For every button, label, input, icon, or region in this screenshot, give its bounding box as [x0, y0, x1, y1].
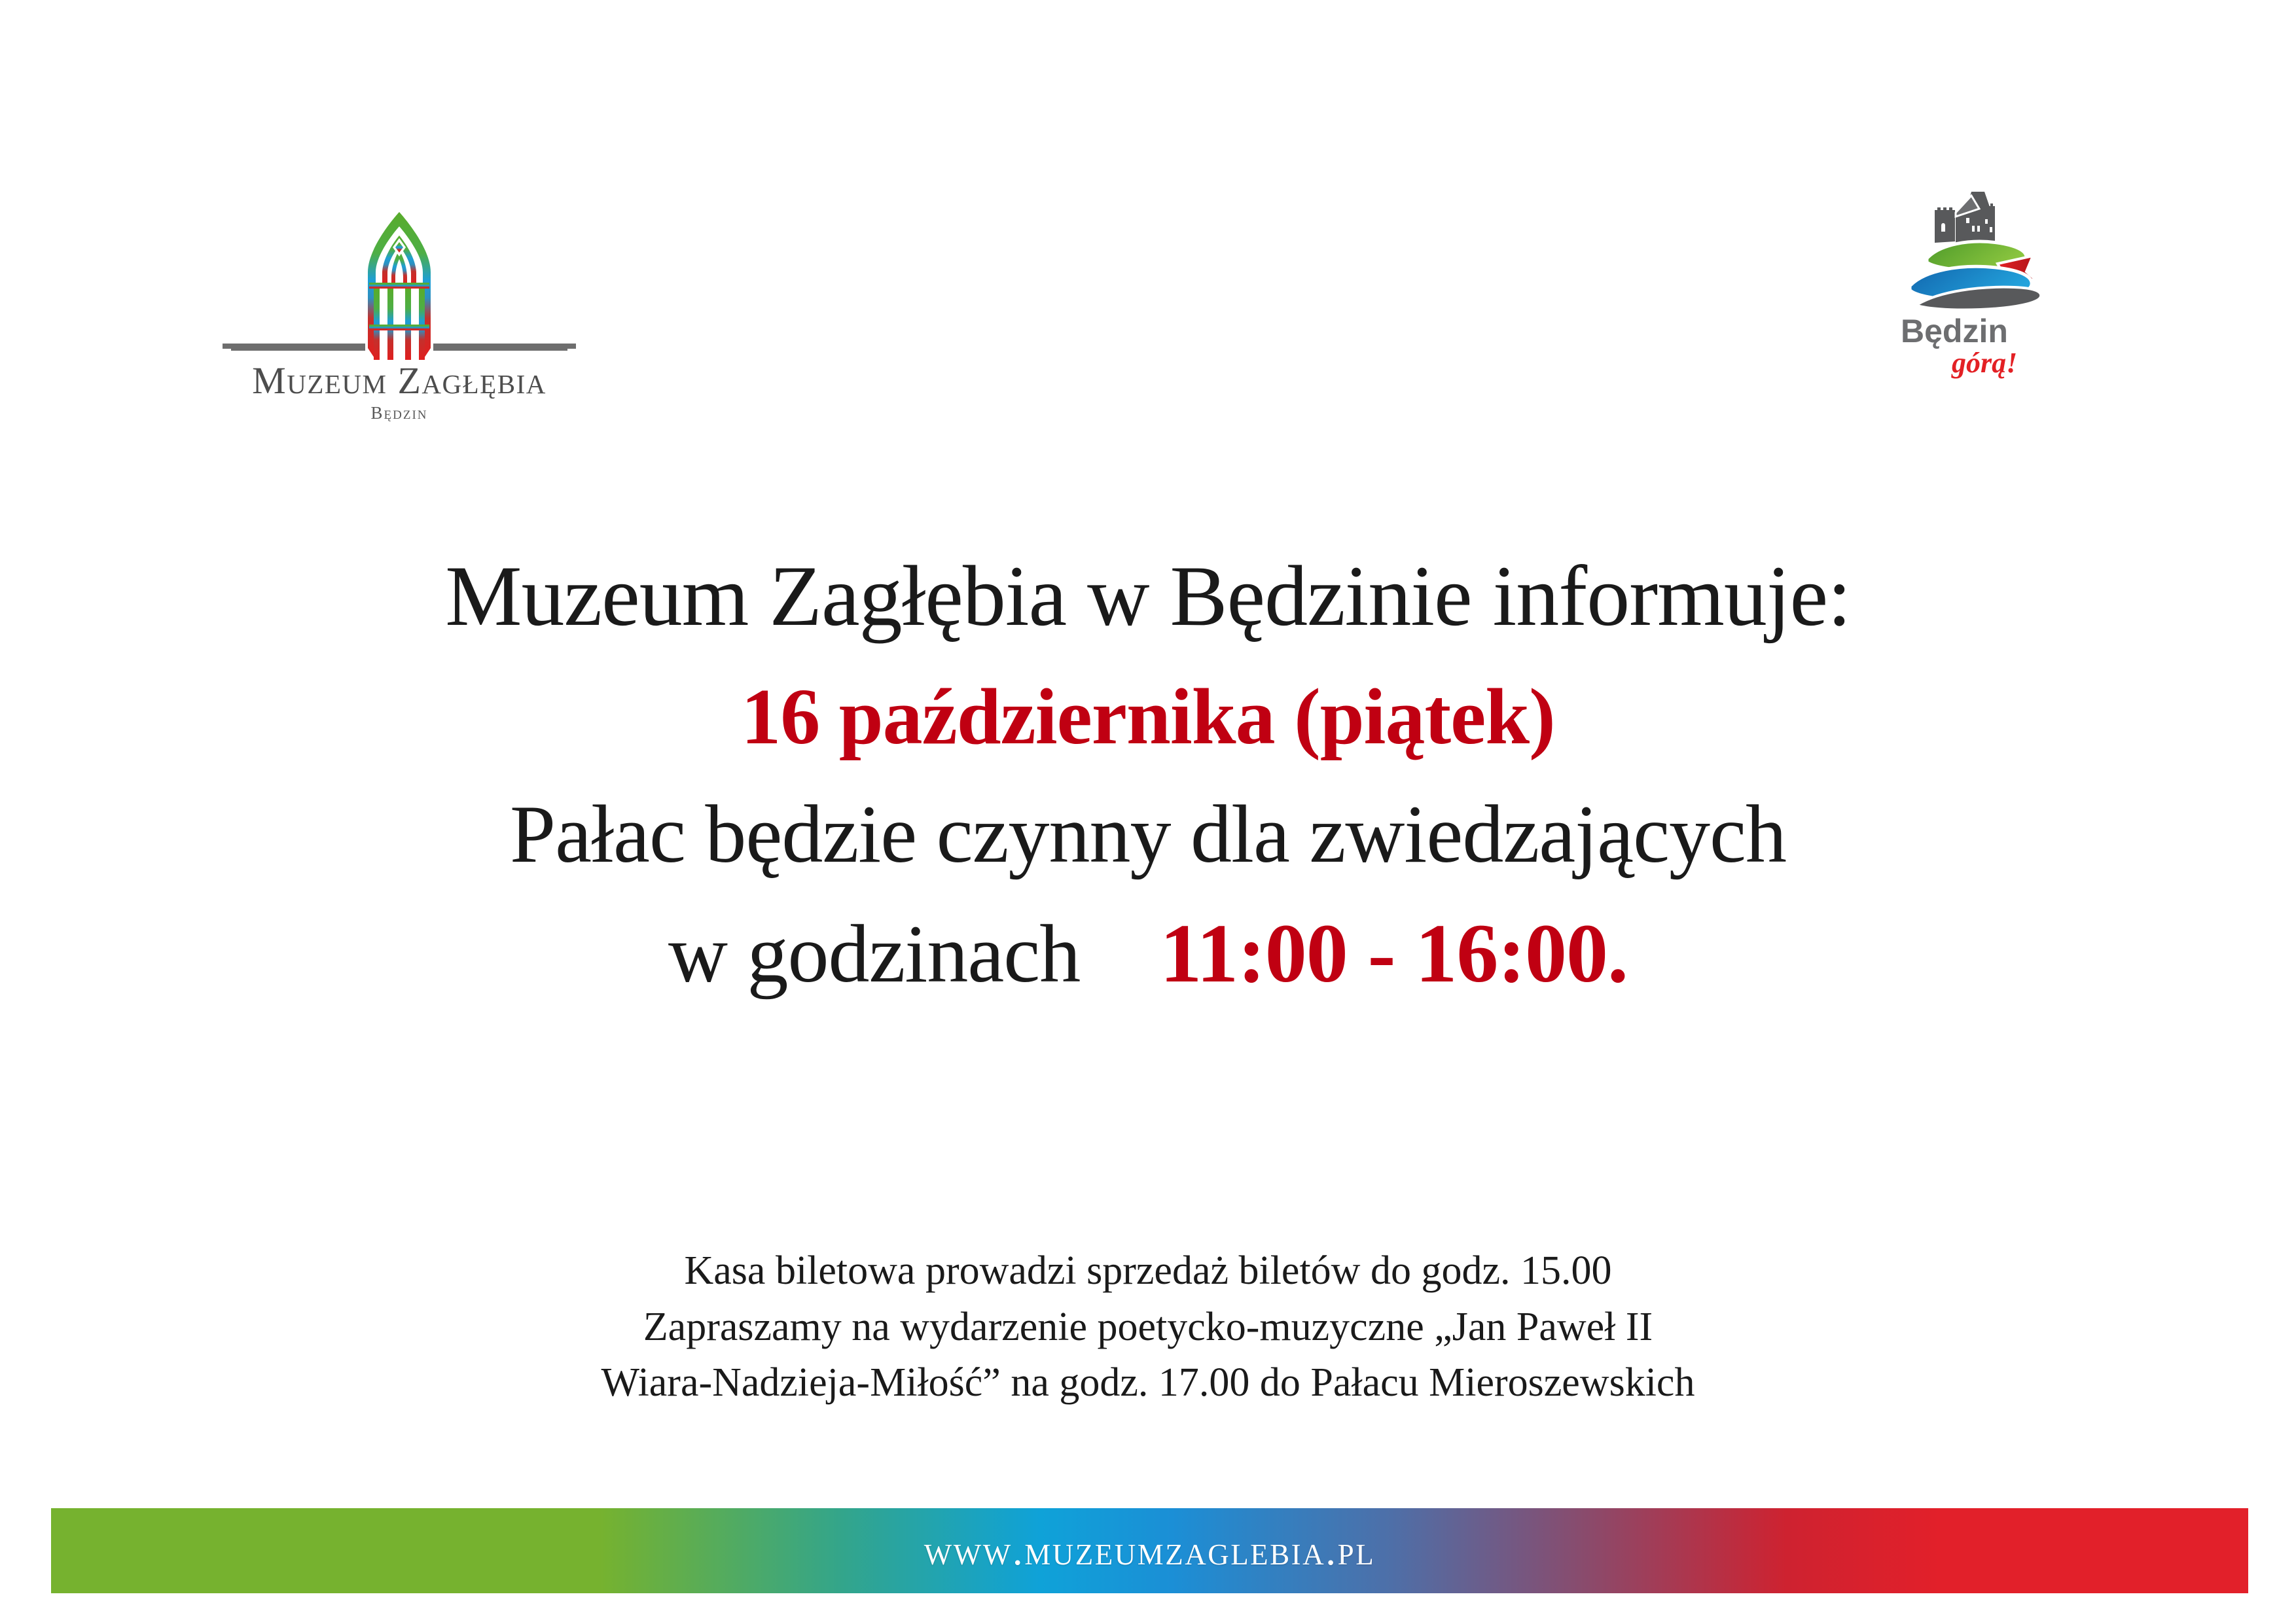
gothic-window-icon: [360, 209, 439, 366]
logo-rules: [216, 344, 583, 353]
logo-rule-left: [223, 344, 365, 349]
bedzin-slogan: górą!: [1949, 345, 2060, 383]
footer-gradient-bar: www.muzeumzaglebia.pl: [51, 1508, 2248, 1593]
logo-rule-right: [433, 344, 576, 349]
headline: Muzeum Zagłębia w Będzinie informuje:: [0, 553, 2296, 639]
hours-prefix: w godzinach: [668, 909, 1080, 1000]
website-url[interactable]: www.muzeumzaglebia.pl: [924, 1527, 1375, 1575]
bedzin-city-logo: Będzin górą!: [1898, 180, 2094, 402]
museum-subtitle: Będzin: [216, 403, 583, 423]
svg-text:Będzin: Będzin: [1901, 313, 2008, 349]
museum-logo: Muzeum Zagłębia Będzin: [216, 209, 583, 425]
main-message: Muzeum Zagłębia w Będzinie informuje: 16…: [0, 553, 2296, 996]
opening-notice: Pałac będzie czynny dla zwiedzających: [0, 794, 2296, 876]
footnote-line-3: Wiara-Nadzieja-Miłość” na godz. 17.00 do…: [0, 1355, 2296, 1411]
poster-canvas: Muzeum Zagłębia Będzin: [0, 0, 2296, 1624]
opening-hours-line: w godzinach 11:00 - 16:00.: [0, 911, 2296, 996]
opening-hours: 11:00 - 16:00.: [1160, 907, 1628, 1000]
footnote-line-1: Kasa biletowa prowadzi sprzedaż biletów …: [0, 1243, 2296, 1299]
footnote-block: Kasa biletowa prowadzi sprzedaż biletów …: [0, 1243, 2296, 1411]
museum-name: Muzeum Zagłębia: [216, 359, 583, 402]
bedzin-castle-hill-icon: [1898, 180, 2094, 324]
event-date: 16 października (piątek): [0, 677, 2296, 757]
footnote-line-2: Zapraszamy na wydarzenie poetycko-muzycz…: [0, 1299, 2296, 1356]
svg-text:górą!: górą!: [1951, 347, 2017, 379]
